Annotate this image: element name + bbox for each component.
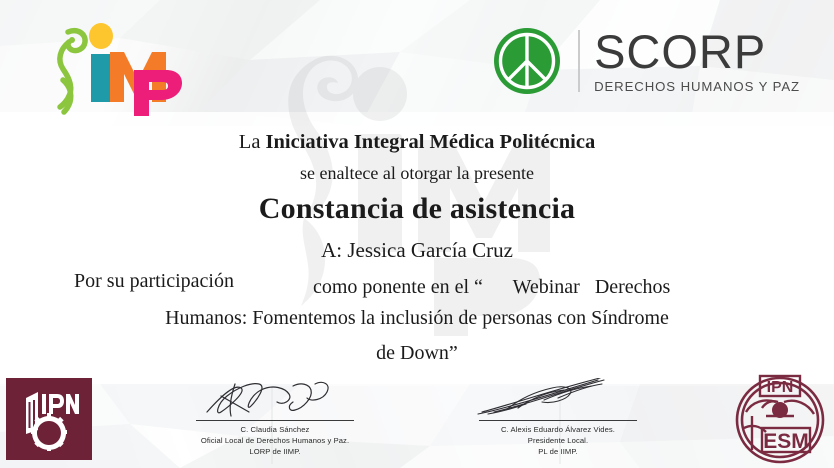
signer-role-right: Presidente Local. xyxy=(448,435,668,446)
signature-block-right: C. Alexis Eduardo Álvarez Vides. Preside… xyxy=(448,378,668,457)
signer-name-right: C. Alexis Eduardo Álvarez Vides. xyxy=(448,424,668,435)
citation-segment-a: Por su participación xyxy=(74,270,234,293)
signature-rule-right xyxy=(479,420,637,421)
page-title: Constancia de asistencia xyxy=(0,192,834,226)
citation-line-3: de Down” xyxy=(0,342,834,365)
signer-org-right: PL de IIMP. xyxy=(448,446,668,457)
signature-rule-left xyxy=(196,420,354,421)
ipn-emblem-icon xyxy=(18,386,80,452)
certificate-body: La Iniciativa Integral Médica Politécnic… xyxy=(0,0,834,468)
award-subtitle: se enaltece al otorgar la presente xyxy=(0,163,834,184)
signature-mark-alexis xyxy=(448,378,668,420)
citation-segment-b: como ponente en el “ Webinar Derechos xyxy=(313,276,670,299)
signer-role-left: Oficial Local de Derechos Humanos y Paz. xyxy=(165,435,385,446)
esm-emblem-icon: IPN ESM xyxy=(732,372,828,464)
signature-caption-left: C. Claudia Sánchez Oficial Local de Dere… xyxy=(165,424,385,457)
signature-mark-claudia xyxy=(165,378,385,420)
signer-org-left: LORP de IIMP. xyxy=(165,446,385,457)
citation-line-2: Humanos: Fomentemos la inclusión de pers… xyxy=(0,307,834,330)
org-prefix: La xyxy=(239,131,266,153)
certificate-canvas: SCORP DERECHOS HUMANOS Y PAZ La Iniciati… xyxy=(0,0,834,468)
signature-block-left: C. Claudia Sánchez Oficial Local de Dere… xyxy=(165,378,385,457)
esm-main-label: ESM xyxy=(763,430,809,453)
ipn-logo xyxy=(6,378,92,460)
issuing-organization-line: La Iniciativa Integral Médica Politécnic… xyxy=(0,131,834,154)
recipient-name: A: Jessica García Cruz xyxy=(0,238,834,263)
signer-name-left: C. Claudia Sánchez xyxy=(165,424,385,435)
esm-top-label: IPN xyxy=(767,379,794,396)
signature-caption-right: C. Alexis Eduardo Álvarez Vides. Preside… xyxy=(448,424,668,457)
esm-logo: IPN ESM xyxy=(732,372,828,464)
org-name: Iniciativa Integral Médica Politécnica xyxy=(266,131,596,153)
